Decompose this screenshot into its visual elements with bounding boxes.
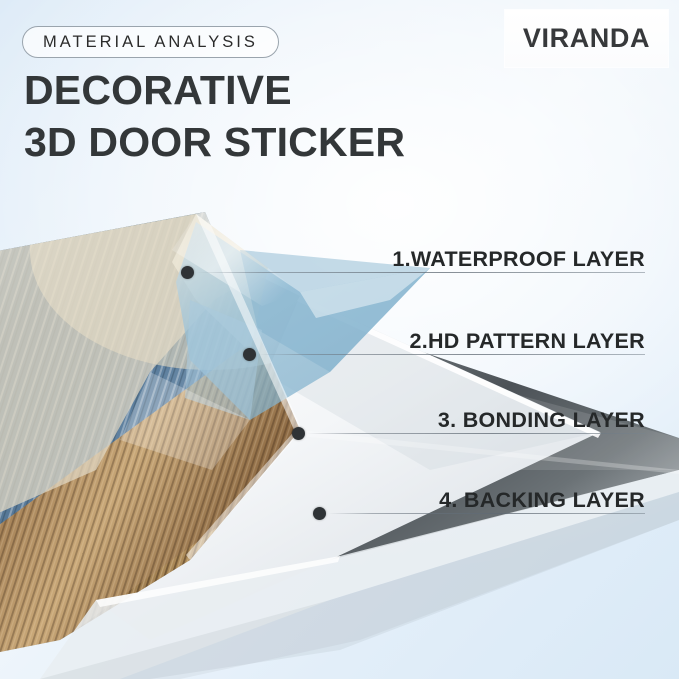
callout-dot-3 (292, 427, 305, 440)
title-line-2: 3D DOOR STICKER (24, 122, 405, 163)
callout-dot-1 (181, 266, 194, 279)
callout-dot-2 (243, 348, 256, 361)
callout-dot-4 (313, 507, 326, 520)
poster-root: MATERIAL ANALYSIS DECORATIVE 3D DOOR STI… (0, 0, 679, 679)
callout-rule-2 (258, 354, 645, 355)
brand-logo: VIRANDA (505, 10, 668, 67)
callout-backing: 4. BACKING LAYER (355, 477, 645, 517)
brand-name: VIRANDA (523, 23, 650, 54)
badge-label: MATERIAL ANALYSIS (43, 33, 258, 52)
callout-rule-4 (328, 513, 645, 514)
callout-bonding: 3. BONDING LAYER (355, 397, 645, 437)
callout-hd-pattern: 2.HD PATTERN LAYER (355, 318, 645, 358)
callout-rule-1 (196, 272, 645, 273)
page-title: DECORATIVE 3D DOOR STICKER (24, 70, 405, 163)
title-line-1: DECORATIVE (24, 70, 405, 111)
callout-waterproof: 1.WATERPROOF LAYER (355, 236, 645, 276)
callout-rule-3 (307, 433, 645, 434)
material-analysis-badge: MATERIAL ANALYSIS (22, 26, 279, 58)
